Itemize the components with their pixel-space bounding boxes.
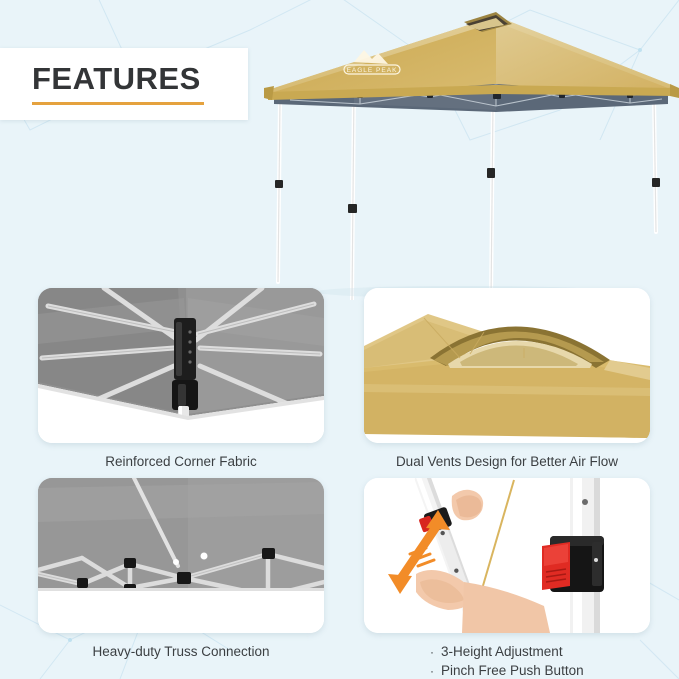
card-image-dual-vents	[364, 288, 650, 443]
svg-text:EAGLE PEAK: EAGLE PEAK	[347, 67, 398, 74]
card-caption-bullets: ·3-Height Adjustment ·Pinch Free Push Bu…	[364, 643, 650, 679]
card-image-height-adjustment	[364, 478, 650, 633]
feature-card-height-adjustment: ·3-Height Adjustment ·Pinch Free Push Bu…	[364, 478, 650, 678]
bullet-line-1: ·3-Height Adjustment	[430, 643, 650, 662]
feature-card-dual-vents: Dual Vents Design for Better Air Flow	[364, 288, 650, 488]
title-underline	[32, 102, 204, 105]
page-title: FEATURES	[32, 63, 248, 96]
card-image-truss-connection	[38, 478, 324, 633]
bullet-dot-icon: ·	[430, 645, 434, 659]
feature-card-heavy-duty-truss: Heavy-duty Truss Connection	[38, 478, 324, 678]
card-caption: Heavy-duty Truss Connection	[38, 643, 324, 662]
features-title-card: FEATURES	[0, 48, 248, 120]
feature-card-reinforced-corner-fabric: Reinforced Corner Fabric	[38, 288, 324, 488]
card-image-corner-truss	[38, 288, 324, 443]
card-caption: Dual Vents Design for Better Air Flow	[364, 453, 650, 472]
card-caption: Reinforced Corner Fabric	[38, 453, 324, 472]
bullet-dot-icon: ·	[430, 664, 434, 678]
bullet-line-2: ·Pinch Free Push Button	[430, 662, 650, 679]
hero-canopy-image: EAGLE PEAK	[250, 0, 679, 300]
